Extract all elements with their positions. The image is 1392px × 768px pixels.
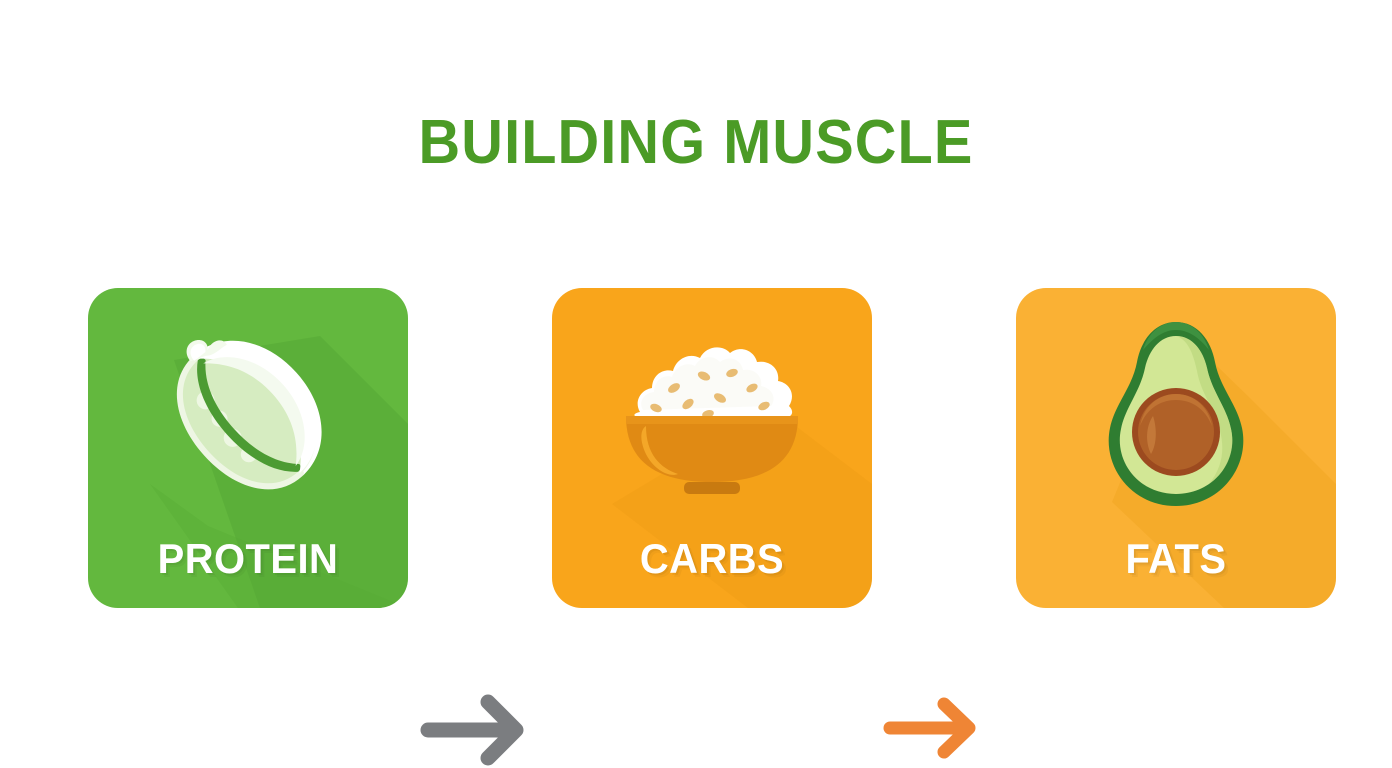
card-carbs[interactable]: CARBS: [552, 288, 872, 608]
card-label-fats: FATS: [1024, 538, 1328, 580]
icon-wrap-fats: [1016, 316, 1336, 516]
card-protein[interactable]: PROTEIN: [88, 288, 408, 608]
card-label-carbs: CARBS: [560, 538, 864, 580]
avocado-icon: [1091, 316, 1261, 516]
pea-pod-icon: [153, 321, 343, 511]
rice-bowl-icon: [612, 326, 812, 506]
arrow-right-orange: [882, 692, 986, 764]
page-title: BUILDING MUSCLE: [49, 112, 1344, 174]
icon-wrap-carbs: [552, 316, 872, 516]
card-fats[interactable]: FATS: [1016, 288, 1336, 608]
infographic-canvas: BUILDING MUSCLE: [0, 0, 1392, 752]
card-label-protein: PROTEIN: [96, 538, 400, 580]
arrow-right-gray: [420, 692, 532, 768]
icon-wrap-protein: [88, 316, 408, 516]
macronutrient-card-row: PROTEIN: [0, 288, 1392, 610]
